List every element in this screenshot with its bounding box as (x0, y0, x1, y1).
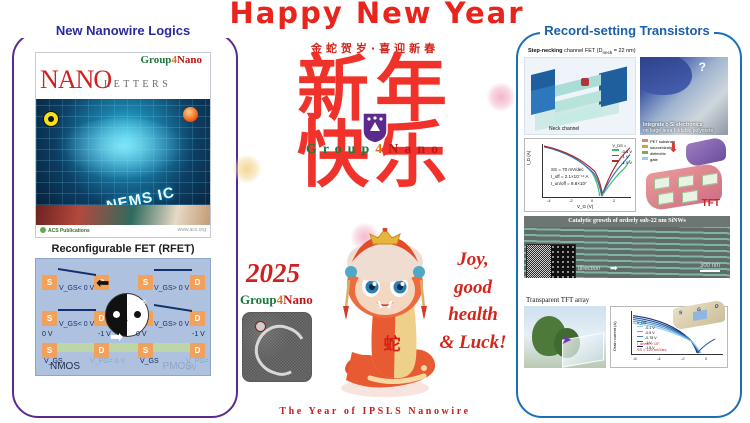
rfet-drain-tr: D (190, 275, 205, 290)
wish-line-2: good (426, 274, 520, 302)
tft-device-cell (702, 173, 718, 187)
cover-photo-strip (36, 205, 210, 227)
acs-publications-logo: ACS Publications (40, 227, 90, 234)
sem-inset-images (526, 244, 576, 278)
greeting-wishes: Joy, good health & Luck! (426, 246, 520, 356)
right-row-1: Neck channel ? Integrate c-Si electronic… (524, 57, 730, 135)
radiation-badge-icon (43, 111, 59, 127)
rfet-caption: Reconfigurable FET (RFET) (26, 243, 220, 255)
tft-device-cell (654, 176, 670, 190)
yinyang-label-nmos: NMOS (128, 300, 146, 306)
cover-masthead: Group4Nano NANO LETTERS (36, 53, 210, 101)
step-fet-caption-rest: channel FET (D (563, 48, 603, 54)
sem-nanowire-snake-image (242, 312, 312, 382)
device-terminal-d: D (715, 304, 719, 311)
iv-plot-ylabel: I_D (A) (526, 151, 531, 165)
rfet-voltage-3: -1 V (192, 331, 205, 338)
logo-center-part3: Nano (388, 142, 444, 157)
question-mark-icon: ? (699, 60, 706, 74)
tft-plot-ylabel: Drain current (A) (612, 322, 617, 352)
growth-direction-arrow-icon: ➡ (610, 265, 618, 272)
greeting-card: Happy New Year New Nanowire Logics Group… (0, 0, 750, 423)
university-shield-icon (362, 112, 388, 144)
right-row-2: I_D (A) V_DS = -0.5 V -1 V -1.5 V (524, 138, 730, 212)
journal-title-sub: LETTERS (104, 79, 171, 90)
step-fet-caption-tail: = 22 nm) (612, 48, 635, 54)
tft-annotation-1: SS = 120 mV/dec (637, 348, 667, 353)
tft-xtick-2: -2 (681, 356, 685, 361)
band-diagram-tr (154, 269, 192, 271)
year-label: 2025 (246, 258, 300, 289)
rfet-voltage-1: -1 V (98, 331, 111, 338)
right-panel-title: Record-setting Transistors (516, 23, 738, 38)
sem-strip-title: Catalytic growth of orderly sub-22 nm Si… (524, 216, 730, 227)
rfet-drain-bot-r: D (190, 343, 205, 358)
left-panel-content: Group4Nano NANO LETTERS NEMS IC ACS Publ… (26, 52, 220, 402)
rfet-bias-tl: V_GS< 0 V (59, 285, 94, 292)
rfet-diagram: S D V_GS< 0 V S D V_GS> 0 V S D V_GS< 0 … (35, 258, 211, 376)
band-diagram-bl (58, 309, 96, 311)
iv-transfer-plot: I_D (A) V_DS = -0.5 V -1 V -1.5 V (524, 138, 636, 212)
group4nano-logo-small: Group4Nano (240, 292, 313, 308)
tft-schematic: ⬇ PET substrate source/drain dielectric … (640, 138, 728, 212)
rfet-source-bot-r: S (138, 343, 153, 358)
tft-plot-annotations: I_on/off > 10⁷ SS = 120 mV/dec (637, 342, 667, 353)
iv-xtick-0: -4 (547, 198, 551, 203)
foldable-caption-line1: Integrate c-Si electronics (643, 122, 702, 128)
tft-legend: PET substrate source/drain dielectric ga… (642, 139, 675, 163)
band-diagram-br (154, 304, 192, 312)
right-panel-title-text: Record-setting Transistors (540, 23, 713, 38)
scale-bar: 300 nm (700, 263, 720, 272)
cover-issue-text: www.acs.org (178, 227, 206, 233)
logo-small-part1: Group (240, 292, 277, 307)
foldable-electronics-photo: ? Integrate c-Si electronics on large ar… (640, 57, 728, 135)
rfet-channel-bar (46, 343, 200, 352)
step-slab-3 (599, 67, 627, 108)
iv-plot-legend: V_DS = -0.5 V -1 V -1.5 V (612, 143, 632, 165)
yinyang-dot-dark (134, 311, 141, 318)
nanowire-catalyst-head-icon (255, 321, 266, 332)
step-fet-caption-sub: neck (603, 50, 613, 55)
step-necking-fet-schematic: Neck channel (524, 57, 636, 135)
cycle-arrow-top-icon: ⬅ (96, 273, 109, 293)
rfet-drain-bot-l: D (94, 343, 109, 358)
yinyang-label-pmos: PMOS (110, 318, 128, 324)
logo-center-part2: 4 (375, 142, 388, 157)
tft-xtick-1: -4 (657, 356, 661, 361)
rfet-note-1: V_PG= 0 V (90, 358, 125, 365)
chinese-greeting: 新年 快乐 Group4Nano (236, 56, 514, 188)
logo-part3: Nano (177, 54, 202, 66)
foldable-caption: Integrate c-Si electronics on large area… (640, 121, 728, 136)
left-panel-title-text: New Nanowire Logics (52, 23, 194, 38)
rfet-voltage-2: 0 V (136, 331, 147, 338)
page-title: Happy New Year (212, 0, 542, 30)
rfet-nmos-label: NMOS (50, 361, 80, 372)
rfet-source-bl: S (42, 311, 57, 326)
nano-letters-cover: Group4Nano NANO LETTERS NEMS IC ACS Publ… (35, 52, 211, 238)
iv-annotation-0: SS = 70 mV/dec (551, 167, 589, 174)
flame-icon (183, 107, 198, 122)
rfet-bias-bl: V_GS< 0 V (59, 321, 94, 328)
bottom-caption: The Year of IPSLS Nanowire (236, 406, 514, 417)
tft-label: TFT (702, 198, 720, 209)
band-diagram-tl (58, 268, 96, 276)
pointer-arrow-icon: ➤ (561, 332, 572, 348)
group4nano-logo-center: Group4Nano (306, 144, 444, 157)
journal-title-main: NANO (40, 65, 111, 95)
wish-line-1: Joy, (426, 246, 520, 274)
iv-plot-annotations: SS = 70 mV/dec I_off = 2.1×10⁻¹⁴ A I_on/… (551, 167, 589, 187)
rfet-drain-br: D (190, 311, 205, 326)
glove-shape (640, 57, 692, 95)
iv-xtick-2: 0 (591, 198, 593, 203)
rfet-bias-br: V_GS> 0 V (154, 321, 189, 328)
rfet-pmos-label: PMOS (163, 361, 192, 372)
foldable-caption-line2: on large area foldable polymers (643, 128, 713, 134)
step-fet-caption-bold: Step-necking (528, 48, 563, 54)
rfet-bias-tr: V_GS> 0 V (154, 285, 189, 292)
logo-small-part3: Nano (283, 292, 313, 307)
scale-bar-line (700, 270, 720, 272)
rfet-source-tl: S (42, 275, 57, 290)
neck-channel-label: Neck channel (549, 126, 579, 132)
cover-footer: ACS Publications www.acs.org (36, 225, 210, 237)
iv-annotation-2: I_on/off = 8.8×10⁷ (551, 181, 589, 188)
transparent-tft-photo: ➤ (524, 306, 606, 368)
tft-xtick-3: 0 (705, 356, 707, 361)
iv-plot-xlabel: V_G (V) (577, 204, 593, 209)
rfet-voltage-0: 0 V (42, 331, 53, 338)
right-panel-content: Step-necking channel FET (Dneck = 22 nm)… (524, 48, 730, 402)
tft-device-cell (682, 190, 698, 204)
wish-line-3: health (426, 301, 520, 329)
device-gate-region (693, 310, 707, 321)
rfet-note-2: V_GS (140, 358, 159, 365)
iv-legend-2: -1.5 V (612, 160, 632, 166)
device-terminal-s: S (679, 310, 682, 317)
center-content: 金蛇贺岁·喜迎新春 新年 快乐 Group4Nano 2025 Group4Na… (236, 40, 514, 423)
scale-bar-label: 300 nm (700, 263, 720, 269)
tft-transfer-plot: Drain current (A) V_DS -0.1 V -0.5 V (610, 306, 728, 368)
tft-device-cell (678, 175, 694, 189)
iv-xtick-1: -2 (569, 198, 573, 203)
sem-nanowire-strip: Catalytic growth of orderly sub-22 nm Si… (524, 216, 730, 278)
rfet-source-tr: S (138, 275, 153, 290)
snake-chinese-char: 蛇 (384, 334, 401, 355)
iv-xtick-3: 2 (613, 198, 615, 203)
sem-inset-left (527, 245, 551, 278)
logo-center-part1: Group (306, 142, 375, 157)
group4nano-logo-cover: Group4Nano (140, 54, 202, 66)
rfet-source-bot-l: S (42, 343, 57, 358)
step-fet-caption: Step-necking channel FET (Dneck = 22 nm) (528, 48, 730, 55)
tft-legend-3: gate (642, 157, 675, 163)
logo-part1: Group (140, 54, 171, 66)
sem-inset-right (551, 245, 575, 278)
wish-line-4: & Luck! (426, 329, 520, 357)
neck-marker-icon (581, 78, 589, 86)
cover-artwork: NEMS IC (36, 99, 210, 205)
iv-annotation-1: I_off = 2.1×10⁻¹⁴ A (551, 174, 589, 181)
tft-xtick-0: -6 (633, 356, 637, 361)
tft-device-cell (658, 192, 674, 206)
left-panel-title: New Nanowire Logics (12, 23, 234, 38)
yinyang-dot-light (113, 311, 120, 318)
right-row-3: ➤ Drain current (A) V_DS -0.1 (524, 306, 730, 368)
